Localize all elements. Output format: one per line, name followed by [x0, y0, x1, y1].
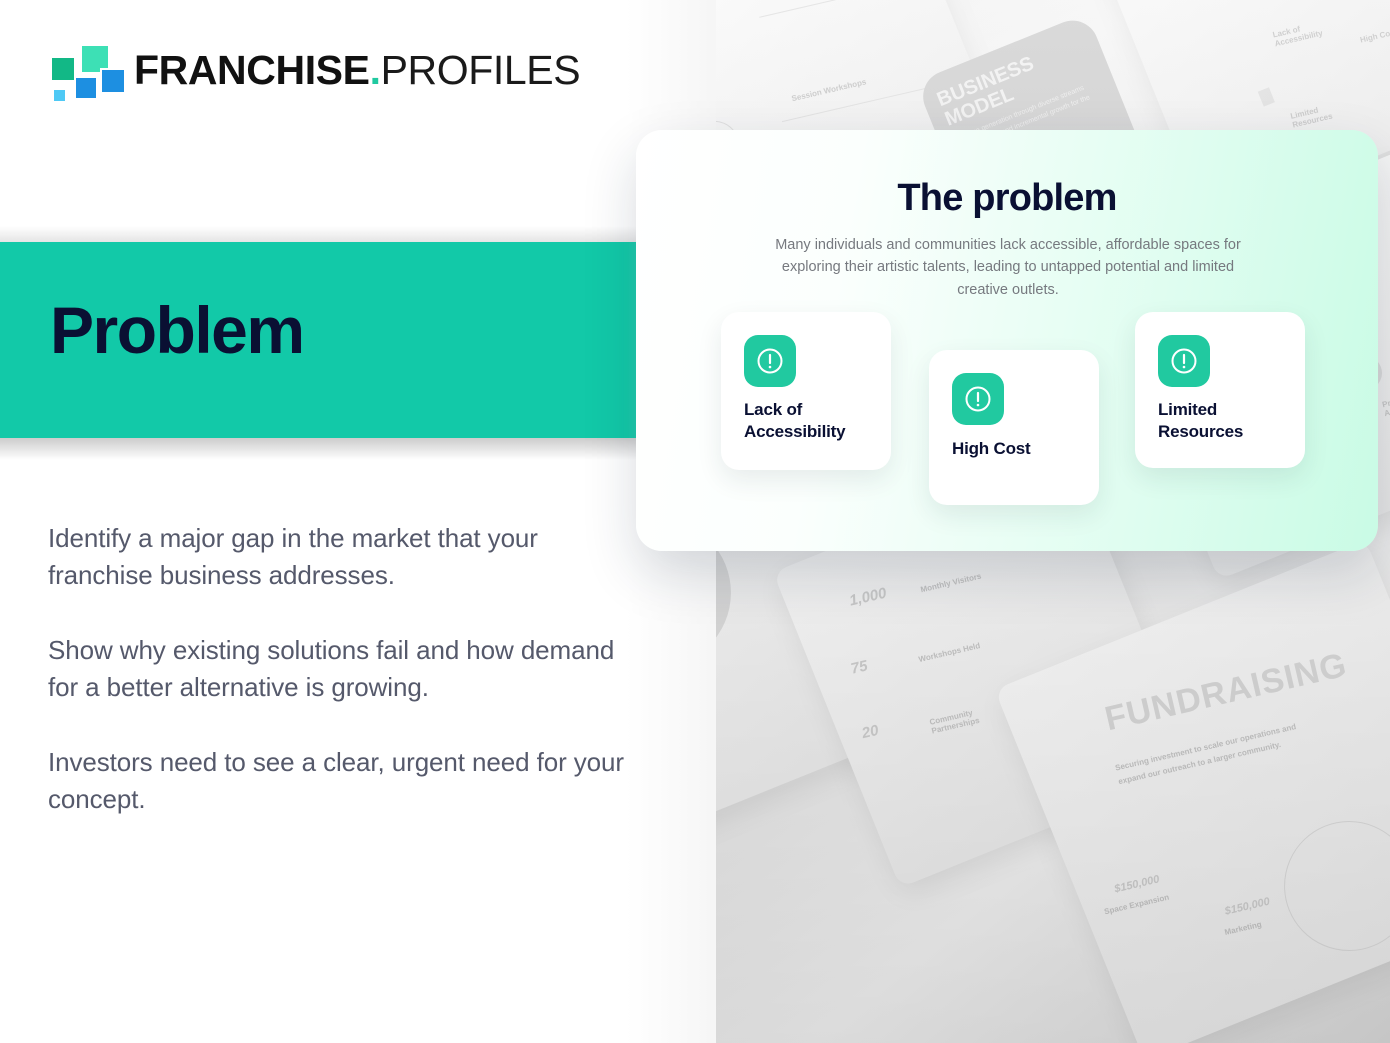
- body-copy: Identify a major gap in the market that …: [48, 520, 628, 817]
- bg-number: 1,000: [848, 585, 888, 610]
- bg-label: Community Partnerships: [929, 705, 992, 736]
- banner-background: Problem: [0, 242, 636, 438]
- brand-logo[interactable]: FRANCHISE.PROFILES: [48, 44, 580, 96]
- page-title: Problem: [50, 292, 304, 368]
- body-paragraph: Show why existing solutions fail and how…: [48, 632, 628, 706]
- problem-preview-panel: The problem Many individuals and communi…: [636, 130, 1378, 551]
- brand-name-bold: FRANCHISE: [134, 47, 370, 93]
- bg-label: Workshops Held: [918, 641, 981, 664]
- bg-label: Professional Artists: [1381, 385, 1390, 418]
- bg-number: 75: [849, 657, 869, 677]
- section-banner: Problem: [0, 242, 636, 438]
- problem-card[interactable]: Limited Resources: [1135, 312, 1305, 468]
- brand-wordmark: FRANCHISE.PROFILES: [134, 47, 580, 94]
- problem-card-label: Limited Resources: [1158, 399, 1291, 443]
- alert-circle-icon: [952, 373, 1004, 425]
- banner-top-shadow: [0, 226, 636, 242]
- bg-label: Session Workshops: [791, 77, 867, 103]
- bg-label: Limited Resources: [1290, 96, 1362, 129]
- body-paragraph: Investors need to see a clear, urgent ne…: [48, 744, 628, 818]
- bg-number: 20: [860, 722, 880, 742]
- body-paragraph: Identify a major gap in the market that …: [48, 520, 628, 594]
- bg-number: $150,000: [1113, 873, 1160, 895]
- problem-card[interactable]: Lack of Accessibility: [721, 312, 891, 470]
- bg-number: $150,000: [1224, 896, 1271, 918]
- left-column: FRANCHISE.PROFILES Problem Identify a ma…: [0, 0, 716, 1043]
- panel-subtitle: Many individuals and communities lack ac…: [758, 234, 1258, 301]
- banner-bottom-shadow: [0, 438, 636, 460]
- problem-card-label: High Cost: [952, 438, 1085, 460]
- bg-label: Lack of Accessibility: [1272, 15, 1344, 48]
- bg-label: Space Expansion: [1103, 893, 1170, 917]
- problem-card-label: Lack of Accessibility: [744, 399, 877, 443]
- bg-label: Marketing: [1224, 920, 1263, 937]
- alert-circle-icon: [744, 335, 796, 387]
- alert-circle-icon: [1158, 335, 1210, 387]
- bg-label: Monthly Visitors: [920, 572, 983, 595]
- brand-name-dot: .: [370, 47, 381, 93]
- slide-canvas: Drop-In Fees Session Workshops Commissio…: [0, 0, 1390, 1043]
- problem-card[interactable]: High Cost: [929, 350, 1099, 505]
- bg-label: High Cost: [1359, 27, 1390, 44]
- logo-squares-icon: [48, 44, 104, 96]
- panel-title: The problem: [636, 177, 1378, 220]
- brand-name-light: PROFILES: [381, 47, 581, 93]
